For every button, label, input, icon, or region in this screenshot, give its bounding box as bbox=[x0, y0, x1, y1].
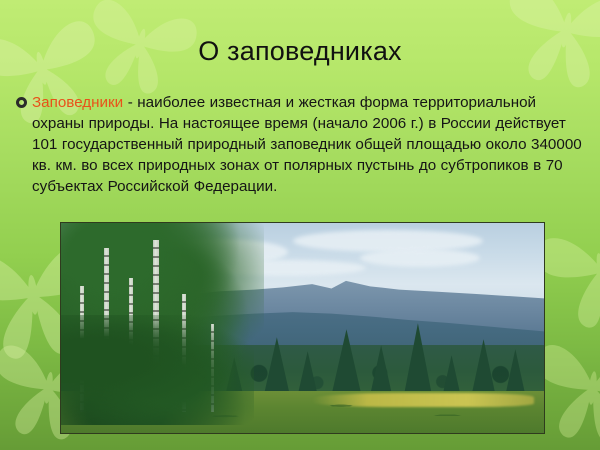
slide-title: О заповедниках bbox=[0, 36, 600, 67]
bullet-marker bbox=[10, 92, 32, 108]
photo-birch-understory bbox=[60, 315, 254, 424]
landscape-photo bbox=[60, 222, 545, 434]
ring-bullet-icon bbox=[16, 97, 27, 108]
presentation-slide: О заповедниках Заповедники - наиболее из… bbox=[0, 0, 600, 450]
highlight-term: Заповедники bbox=[32, 94, 123, 111]
body-paragraph: Заповедники - наиболее известная и жестк… bbox=[32, 92, 592, 197]
photo-content bbox=[61, 223, 544, 433]
slide-body: Заповедники - наиболее известная и жестк… bbox=[10, 92, 592, 197]
